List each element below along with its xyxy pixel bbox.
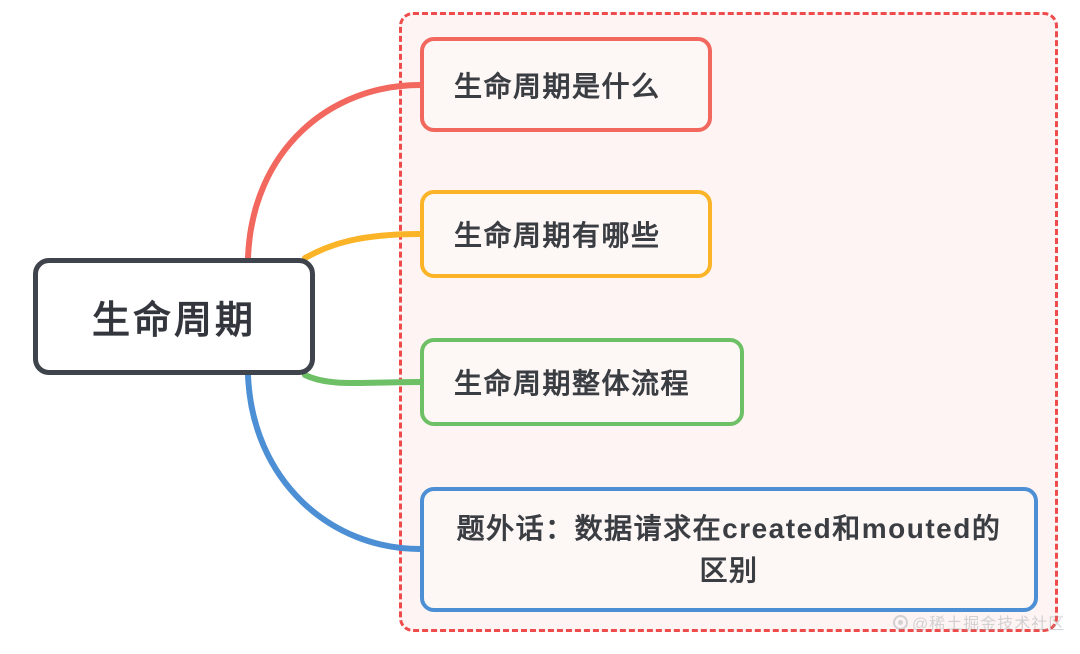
root-node-label: 生命周期	[38, 289, 310, 344]
node-flow-label: 生命周期整体流程	[454, 362, 714, 402]
node-what-label: 生命周期是什么	[454, 65, 682, 105]
connector-to-aside	[248, 375, 420, 549]
node-which-label: 生命周期有哪些	[454, 214, 682, 254]
connector-to-what	[248, 85, 420, 258]
mindmap-node-flow[interactable]: 生命周期整体流程	[420, 338, 744, 426]
mindmap-root-node[interactable]: 生命周期	[33, 258, 315, 375]
node-aside-label: 题外话：数据请求在created和mouted的区别	[450, 508, 1008, 592]
mindmap-node-aside[interactable]: 题外话：数据请求在created和mouted的区别	[420, 487, 1038, 612]
mindmap-node-which[interactable]: 生命周期有哪些	[420, 190, 712, 278]
mindmap-canvas: 生命周期 生命周期是什么 生命周期有哪些 生命周期整体流程 题外话：数据请求在c…	[0, 0, 1080, 654]
mindmap-node-what[interactable]: 生命周期是什么	[420, 37, 712, 132]
